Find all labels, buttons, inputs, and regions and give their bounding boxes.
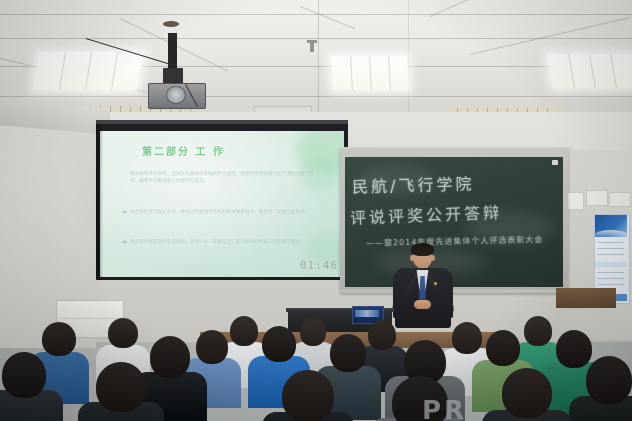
slide-bullet-text: 要提升传播渠道的多元优化，坚持一化「开放和之」基于民众的优质一流表述的跟踪。 (130, 239, 305, 246)
ceiling-light-panel (331, 56, 409, 90)
presenter-lapel-pin-icon (434, 282, 437, 285)
projector-ceiling-mount-ring (163, 21, 179, 27)
poster-section-band (595, 262, 627, 267)
audience-member-head (2, 352, 46, 398)
audience-member-head (368, 320, 396, 350)
audience-member-head (524, 316, 552, 346)
audience-member-head (330, 334, 366, 372)
screen-edge-shadow (96, 124, 103, 280)
audience-member-head (586, 356, 632, 404)
sprinkler-icon (310, 42, 314, 52)
slide-title: 第二部分 工 作 (142, 143, 312, 158)
slide-bullet-1: 在自身的学习理论方法，要适当参加团学系统的相关要求设计，确保有「思想立意先导」。 (122, 209, 320, 216)
audience-member-head (96, 362, 146, 412)
wall-notice-sheet (586, 190, 608, 206)
projection-screen[interactable]: 第二部分 工 作 阳光体育学习项目，坚持多元督导与考核的学习进度，组织学生同体育… (100, 131, 344, 277)
classroom-scene: 第二部分 工 作 阳光体育学习项目，坚持多元督导与考核的学习进度，组织学生同体育… (0, 0, 632, 421)
slide-timer: 01:46 (300, 259, 338, 272)
audience-member-head (556, 330, 592, 368)
audience-member-head (196, 330, 228, 364)
audience-member-head (108, 318, 138, 348)
sprinkler-icon (307, 40, 317, 43)
projector-lens-icon (166, 86, 186, 104)
bullet-marker-icon (122, 210, 127, 214)
ceiling-light-panel (547, 54, 632, 88)
wall-notice-sheet (609, 192, 631, 207)
audience-member-head (486, 330, 520, 366)
blackboard-line-1: 民航/飞行学院 (352, 170, 475, 197)
chalk-tray (341, 290, 567, 295)
slide-paragraph: 阳光体育学习项目，坚持多元督导与考核的学习进度，组织学生同体育行业门课程的复习要… (130, 171, 316, 185)
seated-audience (0, 300, 632, 421)
audience-member-head (282, 370, 334, 421)
blackboard-slide-knob[interactable] (552, 160, 558, 165)
projector-mount-plate (163, 68, 183, 84)
slide-bullet-2: 要提升传播渠道的多元优化，坚持一化「开放和之」基于民众的优质一流表述的跟踪。 (122, 239, 320, 246)
bullet-marker-icon (122, 240, 127, 244)
ceiling (0, 0, 632, 118)
audience-member-head (42, 322, 76, 356)
audience-member-head (230, 316, 258, 346)
foreground-shirt-text: PR (422, 396, 467, 421)
audience-member-head (262, 326, 296, 362)
audience-member-head (300, 318, 326, 346)
audience-member-head (452, 322, 482, 354)
audience-member-head (502, 368, 552, 418)
slide-bullet-text: 在自身的学习理论方法，要适当参加团学系统的相关要求设计，确保有「思想立意先导」。 (130, 209, 311, 216)
poster-wave-graphic (595, 230, 627, 239)
presenter-hair (411, 243, 434, 256)
ceiling-light-panel (33, 52, 143, 90)
audience-member-head (150, 336, 190, 378)
